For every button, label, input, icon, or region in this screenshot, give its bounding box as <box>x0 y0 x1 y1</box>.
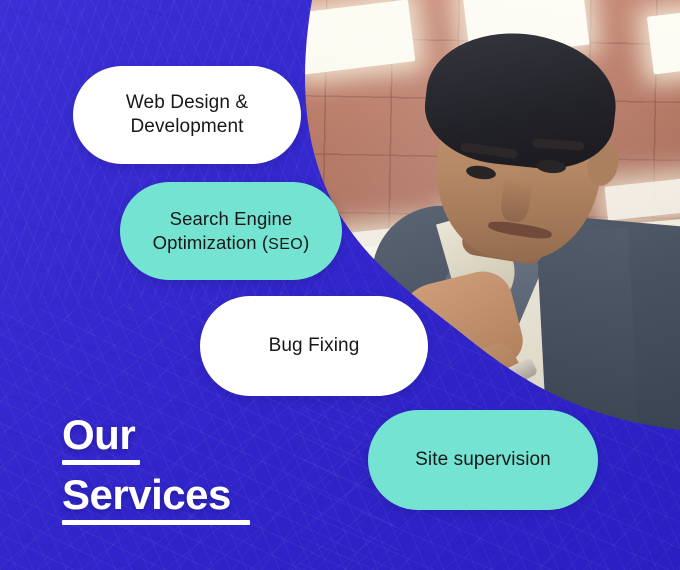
heading-underline-services <box>62 520 250 525</box>
seo-line2-prefix: Optimization ( <box>153 232 269 253</box>
service-label: Bug Fixing <box>269 334 360 358</box>
service-pill-web-design-development[interactable]: Web Design & Development <box>73 66 301 164</box>
services-poster: Web Design & Development Search EngineOp… <box>0 0 680 570</box>
heading-word-our: Our <box>62 414 135 456</box>
service-pill-site-supervision[interactable]: Site supervision <box>368 410 598 510</box>
heading-word-services: Services <box>62 474 231 516</box>
service-label: Site supervision <box>415 448 551 472</box>
service-pill-seo[interactable]: Search EngineOptimization (SEO) <box>120 182 342 280</box>
seo-line1: Search Engine <box>170 208 293 229</box>
service-label: Search EngineOptimization (SEO) <box>153 207 310 255</box>
seo-acronym: SEO <box>268 236 303 253</box>
heading-underline-our <box>62 460 140 465</box>
heading-line-2: Services <box>62 474 250 525</box>
seo-line2-suffix: ) <box>303 232 309 253</box>
heading-line-1: Our <box>62 414 250 465</box>
service-pill-bug-fixing[interactable]: Bug Fixing <box>200 296 428 396</box>
service-label: Web Design & Development <box>95 91 279 140</box>
poster-heading: Our Services <box>62 414 250 534</box>
